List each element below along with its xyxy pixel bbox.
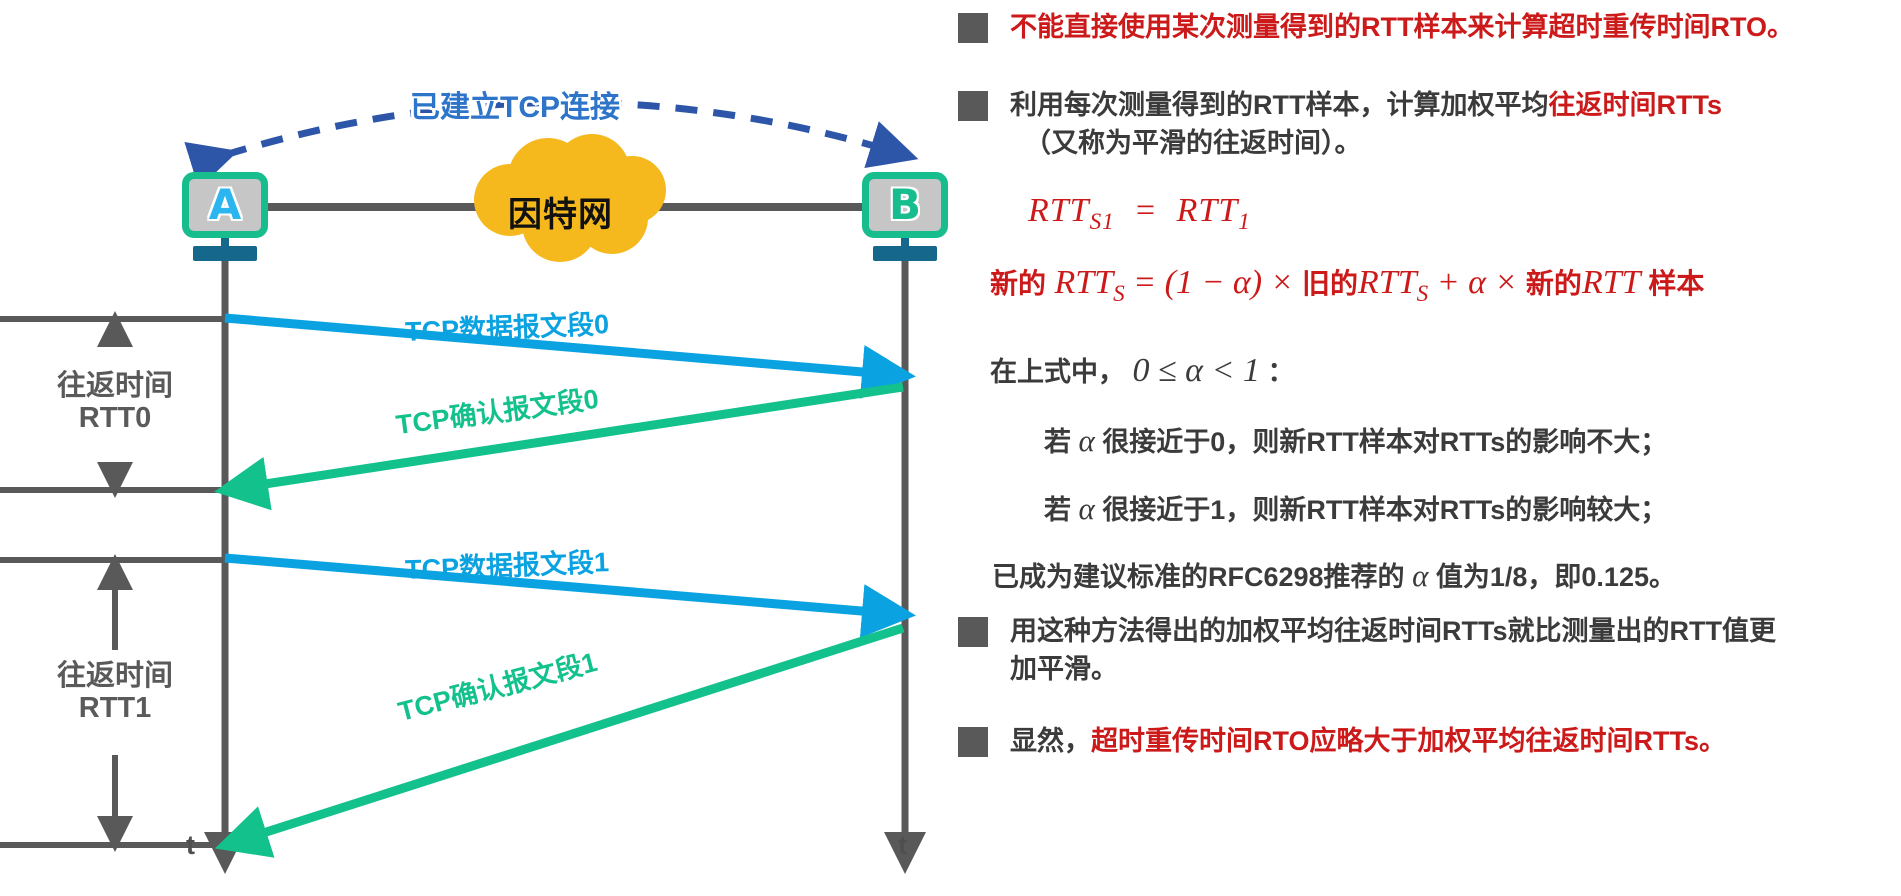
f2-v2: RTT <box>1358 264 1417 301</box>
internet-cloud-label: 因特网 <box>508 187 613 236</box>
bullet-1-text: 不能直接使用某次测量得到的RTT样本来计算超时重传时间RTO。 <box>1010 8 1794 46</box>
host-b: B <box>862 172 948 261</box>
n1-b: 很接近于0，则新RTT样本对RTTs的影响不大； <box>1102 427 1667 457</box>
f2-v1-sub: S <box>1113 281 1125 307</box>
bullet-square-icon <box>958 617 988 647</box>
bullet-item-2: 利用每次测量得到的RTT样本，计算加权平均往返时间RTTs （又称为平滑的往返时… <box>958 86 1828 163</box>
f2-v2-sub: S <box>1417 281 1429 307</box>
f2-eq: = <box>1133 264 1156 301</box>
n2-b: 很接近于1，则新RTT样本对RTTs的影响较大； <box>1102 495 1667 525</box>
n0-suffix: ： <box>1267 357 1294 387</box>
bullet-item-1: 不能直接使用某次测量得到的RTT样本来计算超时重传时间RTO。 <box>958 8 1888 46</box>
host-a-neck <box>221 238 229 246</box>
f2-v3: RTT <box>1582 264 1640 301</box>
time-axis-label-b: t <box>898 830 907 861</box>
host-b-base <box>873 246 937 261</box>
diagram-vectors <box>0 0 950 896</box>
host-a-base <box>193 246 257 261</box>
n2-a: 若 <box>1044 495 1071 525</box>
bullet-2-text: 利用每次测量得到的RTT样本，计算加权平均往返时间RTTs （又称为平滑的往返时… <box>1010 86 1722 163</box>
rtt0-measure: 往返时间 RTT0 <box>20 370 210 435</box>
f2-p4: + α × <box>1437 264 1518 301</box>
note-alpha-near-one: 若 α 很接近于1，则新RTT样本对RTTs的影响较大； <box>1044 488 1667 527</box>
n3-a: 已成为建议标准的RFC6298推荐的 <box>992 562 1405 592</box>
f2-p2: (1 − α) × <box>1165 264 1294 301</box>
bullet-item-4: 显然，超时重传时间RTO应略大于加权平均往返时间RTTs。 <box>958 722 1858 760</box>
f1-rhs: RTT <box>1177 192 1239 229</box>
host-b-label: B <box>862 172 948 238</box>
host-a: A <box>182 172 268 261</box>
explanation-panel: 不能直接使用某次测量得到的RTT样本来计算超时重传时间RTO。 利用每次测量得到… <box>950 0 1901 896</box>
note-rfc6298: 已成为建议标准的RFC6298推荐的 α 值为1/8，即0.125。 <box>992 555 1676 594</box>
bullet-square-icon <box>958 91 988 121</box>
tcp-connection-label: 已建立TCP连接 <box>410 82 620 126</box>
bullet-3-text: 用这种方法得出的加权平均往返时间RTTs就比测量出的RTT值更 加平滑。 <box>1010 612 1776 689</box>
sequence-diagram: A B 已建立TCP连接 因特网 TCP数据报文段0 TCP确认报文段0 TCP… <box>0 0 950 896</box>
n0-prefix: 在上式中， <box>990 357 1125 387</box>
bullet-item-3: 用这种方法得出的加权平均往返时间RTTs就比测量出的RTT值更 加平滑。 <box>958 612 1858 689</box>
time-axis-label-a: t <box>186 830 195 861</box>
f1-eq: = <box>1134 192 1158 229</box>
note-alpha-near-zero: 若 α 很接近于0，则新RTT样本对RTTs的影响不大； <box>1044 420 1667 459</box>
formula-weighted-average: 新的 RTTS = (1 − α) × 旧的RTTS + α × 新的RTT 样… <box>990 262 1704 308</box>
bullet-3-line2: 加平滑。 <box>1010 650 1776 688</box>
f1-rhs-sub: 1 <box>1238 209 1251 235</box>
formula-rtts1: RTTS1 = RTT1 <box>1028 192 1251 236</box>
n3-alpha: α <box>1412 558 1428 593</box>
f2-p1: 新的 <box>990 268 1046 299</box>
bullet-2-line1b: 往返时间RTTs <box>1548 90 1722 120</box>
bullet-4-text: 显然，超时重传时间RTO应略大于加权平均往返时间RTTs。 <box>1010 722 1726 760</box>
note-alpha-range: 在上式中， 0 ≤ α < 1 ： <box>990 350 1294 390</box>
bullet-4-red: 超时重传时间RTO应略大于加权平均往返时间RTTs。 <box>1091 726 1726 756</box>
rtt1-measure: 往返时间 RTT1 <box>20 660 210 725</box>
rtt0-value: RTT0 <box>20 402 210 434</box>
bullet-2-line2: （又称为平滑的往返时间）。 <box>1010 124 1722 162</box>
n3-b: 值为1/8，即0.125。 <box>1436 562 1676 592</box>
f2-p5: 新的 <box>1526 268 1582 299</box>
n1-alpha: α <box>1079 423 1095 458</box>
bullet-square-icon <box>958 13 988 43</box>
rtt1-value: RTT1 <box>20 692 210 724</box>
host-a-label: A <box>182 172 268 238</box>
f1-lhs-sub: S1 <box>1090 209 1115 235</box>
n0-math: 0 ≤ α < 1 <box>1133 352 1260 389</box>
f2-p6: 样本 <box>1648 268 1704 299</box>
host-b-neck <box>901 238 909 246</box>
n2-alpha: α <box>1079 491 1095 526</box>
rtt0-title: 往返时间 <box>20 370 210 402</box>
segment-label-tx1: TCP数据报文段1 <box>404 540 609 587</box>
f2-p3: 旧的 <box>1302 268 1358 299</box>
rtt1-title: 往返时间 <box>20 660 210 692</box>
f1-lhs: RTT <box>1028 192 1090 229</box>
bullet-2-line1a: 利用每次测量得到的RTT样本，计算加权平均 <box>1010 90 1548 120</box>
bullet-4-prefix: 显然， <box>1010 726 1091 756</box>
bullet-square-icon <box>958 727 988 757</box>
bullet-3-line1: 用这种方法得出的加权平均往返时间RTTs就比测量出的RTT值更 <box>1010 612 1776 650</box>
n1-a: 若 <box>1044 427 1071 457</box>
f2-v1: RTT <box>1055 264 1114 301</box>
segment-label-tx0: TCP数据报文段0 <box>404 302 609 349</box>
